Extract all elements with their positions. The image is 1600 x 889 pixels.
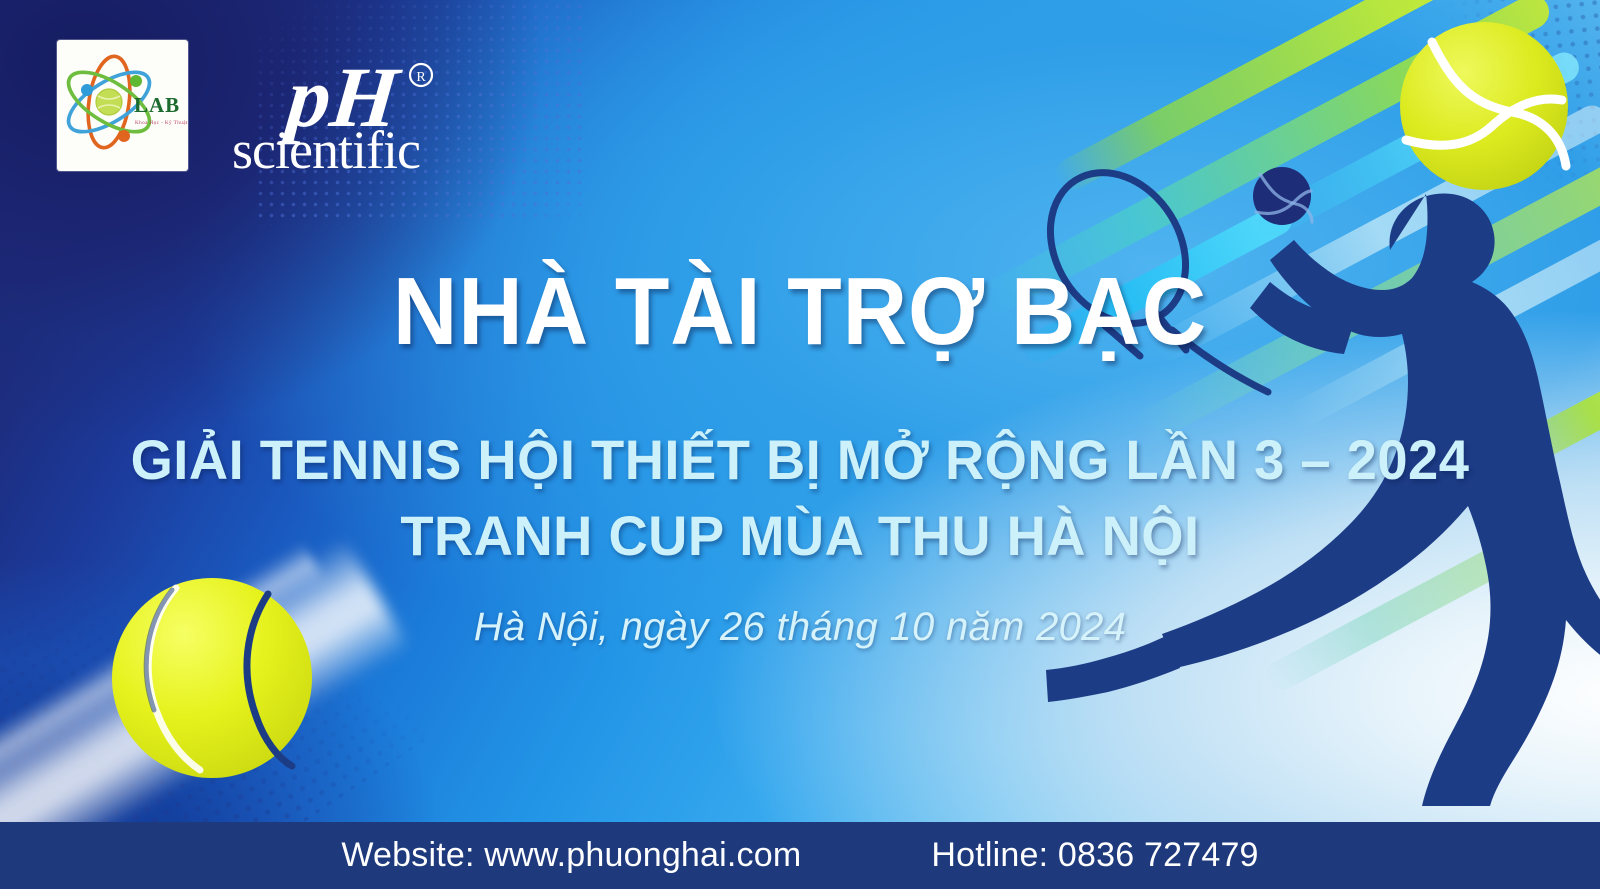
main-title: NHÀ TÀI TRỢ BẠC — [56, 264, 1544, 360]
lab-logo-tagline: Khoa Học - Kỹ Thuật — [135, 119, 188, 126]
footer-website[interactable]: Website: www.phuonghai.com — [341, 836, 801, 875]
event-date: Hà Nội, ngày 26 tháng 10 năm 2024 — [0, 605, 1600, 650]
lab-logo: LAB Khoa Học - Kỹ Thuật — [57, 40, 188, 171]
footer-hotline[interactable]: Hotline: 0836 727479 — [931, 836, 1258, 875]
lab-logo-text: LAB — [134, 93, 180, 117]
subtitle-line-1: GIẢI TENNIS HỘI THIẾT BỊ MỞ RỘNG LẦN 3 –… — [24, 432, 1576, 488]
ph-wordmark: scientific — [232, 120, 420, 180]
atom-electron-green — [130, 75, 142, 87]
atom-electron-orange — [118, 130, 130, 142]
atom-electron-blue — [81, 84, 93, 96]
sponsor-poster: LAB Khoa Học - Kỹ Thuật pH R scientific … — [0, 0, 1600, 889]
ph-scientific-logo: pH R scientific — [222, 40, 492, 180]
footer-bar: Website: www.phuonghai.com Hotline: 0836… — [0, 822, 1600, 889]
subtitle-line-2: TRANH CUP MÙA THU HÀ NỘI — [24, 508, 1576, 564]
registered-trademark-icon: R — [410, 64, 432, 86]
svg-text:R: R — [416, 70, 426, 85]
